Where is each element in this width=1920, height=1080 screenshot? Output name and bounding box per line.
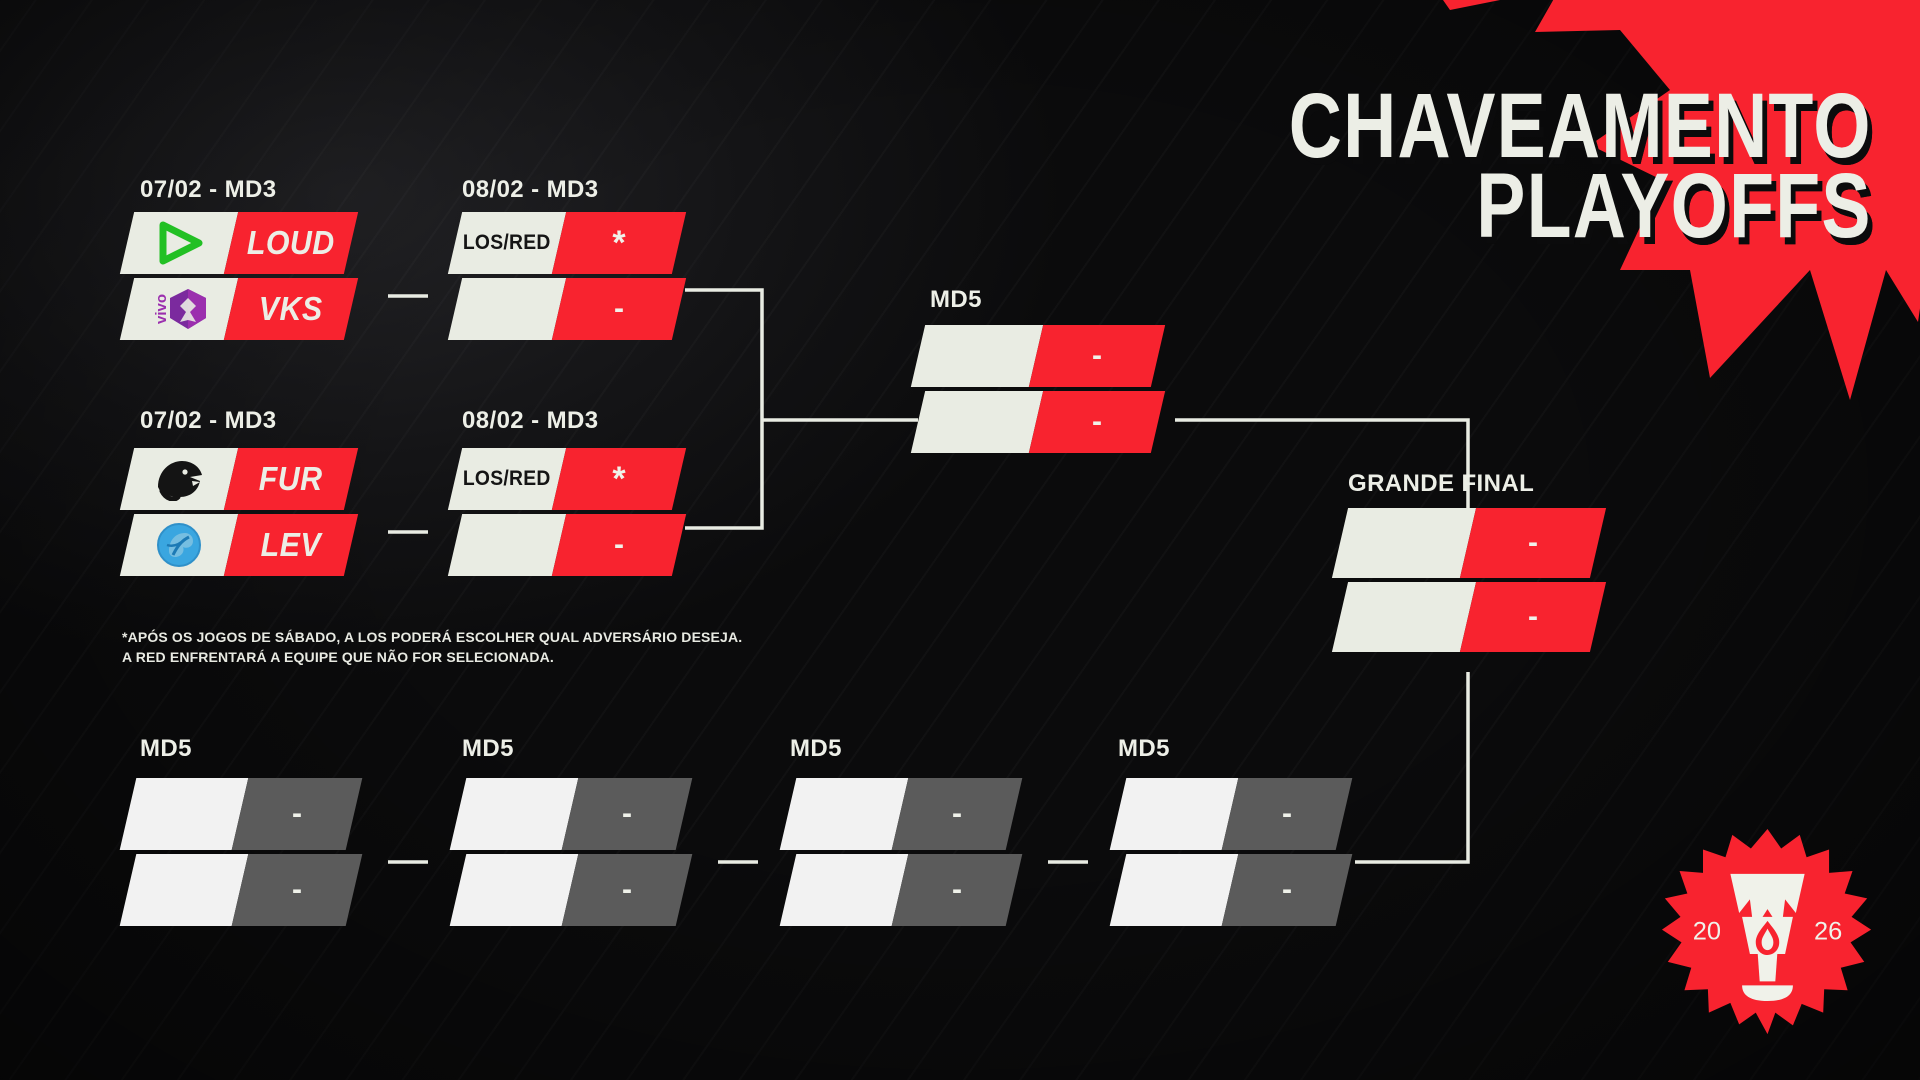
round-label-semifinal: MD5 [930, 286, 982, 314]
score-value: - [1092, 407, 1102, 437]
score-value: * [612, 462, 625, 496]
table-row[interactable]: - [788, 854, 1014, 926]
seed-cell [780, 854, 909, 926]
seed-cell [448, 278, 566, 340]
score-cell: - [1460, 582, 1606, 652]
table-row[interactable]: - [458, 778, 684, 850]
seed-cell [450, 778, 579, 850]
page-title: CHAVEAMENTO PLAYOFFS [1143, 86, 1872, 246]
seed-cell [911, 325, 1043, 387]
score-value: - [952, 799, 962, 829]
seed-cell [1110, 778, 1239, 850]
match-grande-final[interactable]: - - [1340, 508, 1598, 652]
title-line-1: CHAVEAMENTO [1289, 86, 1872, 166]
table-row[interactable]: - [1340, 508, 1598, 578]
match-r1-fur-lev[interactable]: FUR LEV [127, 448, 351, 576]
team-name-cell: LEV [224, 514, 358, 576]
table-row[interactable]: - [458, 854, 684, 926]
table-row[interactable]: - [455, 278, 679, 340]
score-cell: - [892, 854, 1023, 926]
score-cell: - [232, 778, 363, 850]
table-row[interactable]: - [455, 514, 679, 576]
score-value: - [1282, 799, 1292, 829]
round-label-lb-4: MD5 [1118, 735, 1170, 763]
score-cell: - [562, 778, 693, 850]
score-cell: - [1222, 854, 1353, 926]
match-lower-4[interactable]: - - [1118, 778, 1344, 926]
round-label-r1-m1: 07/02 - MD3 [140, 176, 276, 204]
score-cell: - [1029, 391, 1165, 453]
table-row[interactable]: - [1340, 582, 1598, 652]
seed-cell [450, 854, 579, 926]
score-value: - [1092, 341, 1102, 371]
round-label-lb-1: MD5 [140, 735, 192, 763]
score-value: - [292, 799, 302, 829]
badge-year-left: 20 [1693, 917, 1721, 945]
table-row[interactable]: - [1118, 778, 1344, 850]
score-value: - [1528, 602, 1538, 632]
score-cell: - [1222, 778, 1353, 850]
table-row[interactable]: LOS/RED * [455, 448, 679, 510]
table-row[interactable]: vivo VKS [127, 278, 351, 340]
table-row[interactable]: LOS/RED * [455, 212, 679, 274]
score-value: - [1282, 875, 1292, 905]
seed-cell [1332, 508, 1476, 578]
leviatan-logo-icon [155, 521, 203, 569]
score-cell: - [232, 854, 363, 926]
score-cell: - [1460, 508, 1606, 578]
seed-label: LOS/RED [463, 231, 551, 255]
footnote-text: *APÓS OS JOGOS DE SÁBADO, A LOS PODERÁ E… [122, 628, 742, 668]
loud-logo-icon [155, 221, 203, 265]
round-label-grande-final: GRANDE FINAL [1348, 470, 1534, 498]
table-row[interactable]: LEV [127, 514, 351, 576]
match-lower-1[interactable]: - - [128, 778, 354, 926]
score-value: - [952, 875, 962, 905]
seed-label: LOS/RED [463, 467, 551, 491]
title-line-2: PLAYOFFS [1289, 166, 1872, 246]
score-value: - [622, 799, 632, 829]
score-cell: * [552, 448, 686, 510]
seed-cell [120, 854, 249, 926]
table-row[interactable]: FUR [127, 448, 351, 510]
team-logo-cell [120, 514, 238, 576]
score-cell: - [562, 854, 693, 926]
table-row[interactable]: LOUD [127, 212, 351, 274]
seed-cell: LOS/RED [448, 212, 566, 274]
table-row[interactable]: - [128, 778, 354, 850]
match-r1-loud-vks[interactable]: LOUD vivo VKS [127, 212, 351, 340]
score-cell: - [1029, 325, 1165, 387]
svg-text:vivo: vivo [153, 294, 170, 324]
score-value: - [614, 530, 624, 560]
seed-cell [1110, 854, 1239, 926]
table-row[interactable]: - [128, 854, 354, 926]
table-row[interactable]: - [918, 325, 1158, 387]
furia-logo-icon [152, 457, 206, 501]
match-lower-3[interactable]: - - [788, 778, 1014, 926]
team-logo-cell [120, 212, 238, 274]
score-cell: * [552, 212, 686, 274]
score-value: - [614, 294, 624, 324]
round-label-lb-3: MD5 [790, 735, 842, 763]
team-name: FUR [259, 460, 323, 498]
seed-cell: LOS/RED [448, 448, 566, 510]
seed-cell [911, 391, 1043, 453]
tournament-badge: 20 26 [1660, 827, 1875, 1042]
badge-year-right: 26 [1814, 917, 1842, 945]
seed-cell [780, 778, 909, 850]
round-label-lb-2: MD5 [462, 735, 514, 763]
team-name-cell: VKS [224, 278, 358, 340]
match-semifinal-upper[interactable]: - - [918, 325, 1158, 453]
score-value: - [622, 875, 632, 905]
table-row[interactable]: - [1118, 854, 1344, 926]
seed-cell [1332, 582, 1476, 652]
team-logo-cell [120, 448, 238, 510]
team-name: VKS [259, 290, 323, 328]
score-value: - [292, 875, 302, 905]
round-label-r1-m2: 07/02 - MD3 [140, 407, 276, 435]
match-r2-upper-1[interactable]: LOS/RED * - [455, 212, 679, 340]
seed-cell [448, 514, 566, 576]
score-cell: - [552, 278, 686, 340]
seed-cell [120, 778, 249, 850]
team-name-cell: FUR [224, 448, 358, 510]
score-cell: - [892, 778, 1023, 850]
team-name: LOUD [247, 224, 335, 262]
match-r2-upper-2[interactable]: LOS/RED * - [455, 448, 679, 576]
score-cell: - [552, 514, 686, 576]
table-row[interactable]: - [788, 778, 1014, 850]
score-value: * [612, 226, 625, 260]
table-row[interactable]: - [918, 391, 1158, 453]
round-label-r2-m1: 08/02 - MD3 [462, 176, 598, 204]
vks-logo-icon: vivo [144, 286, 214, 332]
team-name: LEV [261, 526, 321, 564]
score-value: - [1528, 528, 1538, 558]
team-name-cell: LOUD [224, 212, 358, 274]
match-lower-2[interactable]: - - [458, 778, 684, 926]
team-logo-cell: vivo [120, 278, 238, 340]
round-label-r2-m2: 08/02 - MD3 [462, 407, 598, 435]
